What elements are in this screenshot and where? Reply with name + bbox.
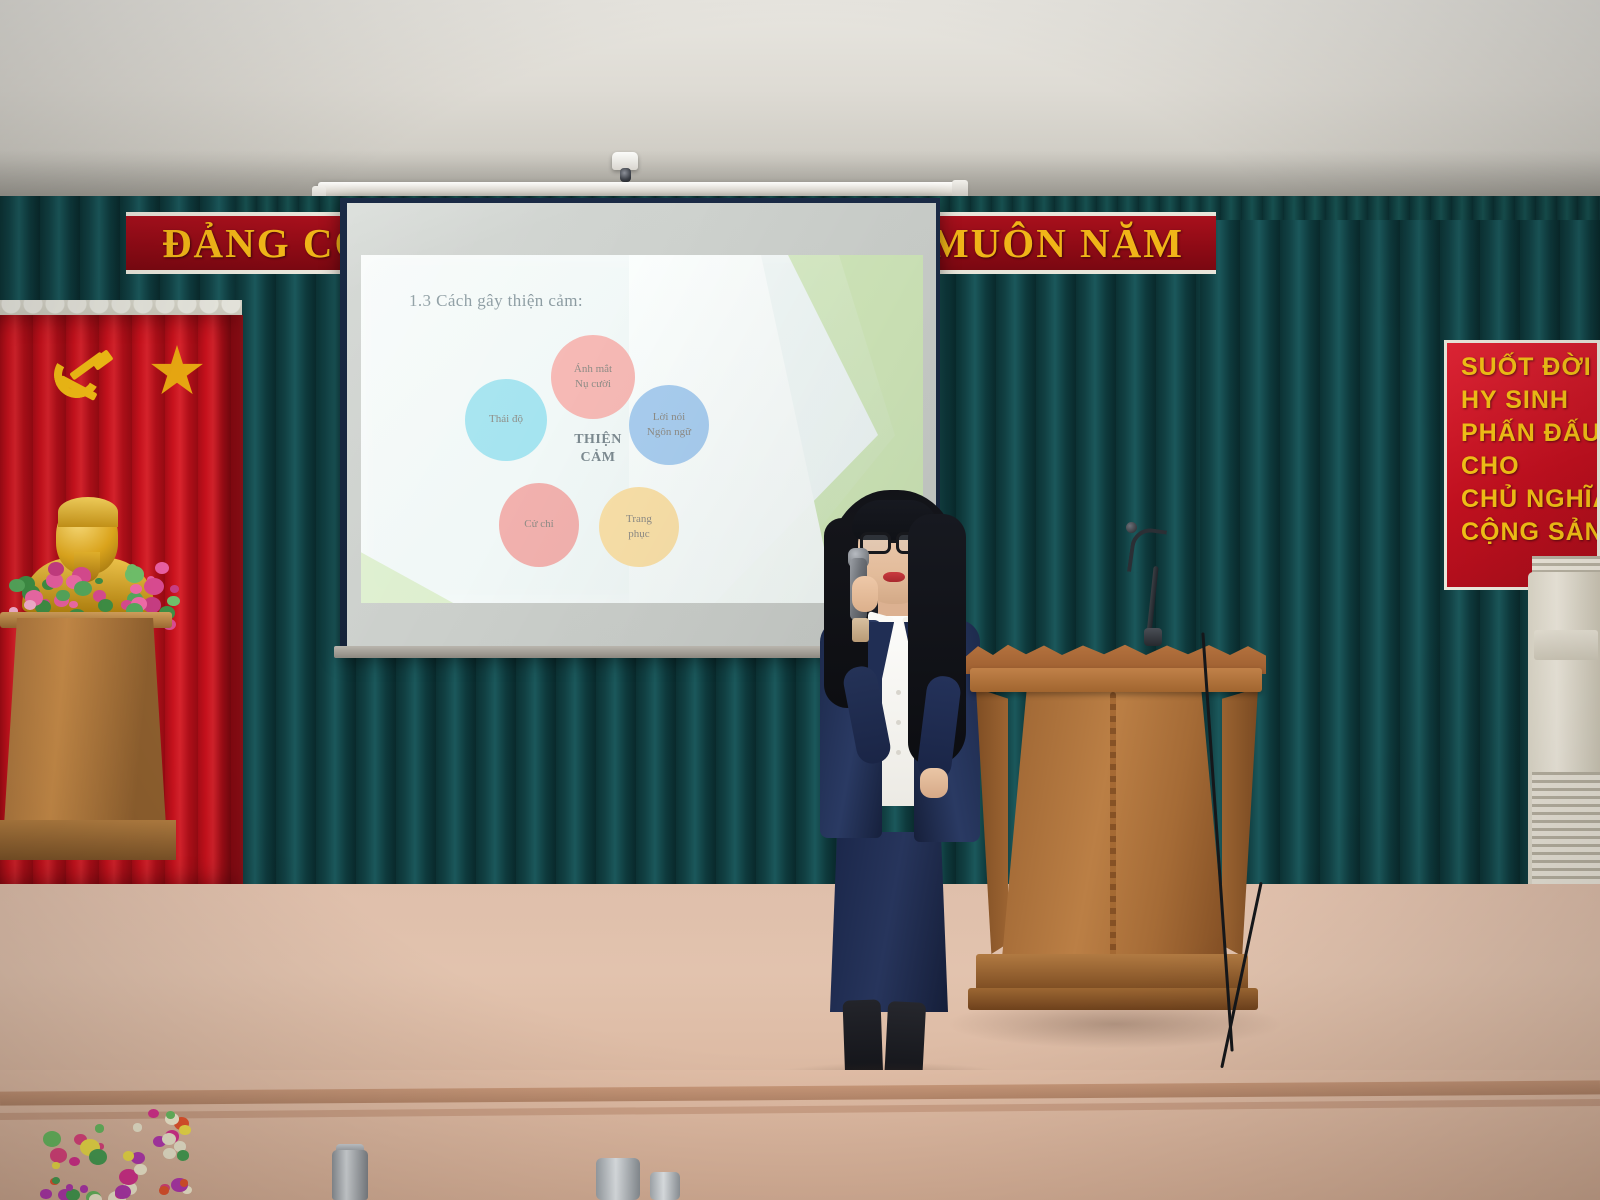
flower-petal — [179, 1125, 190, 1135]
bubble-dress-line2: phục — [628, 527, 649, 542]
slide-accent-shape-3 — [361, 505, 475, 603]
camera-lens-icon — [620, 168, 631, 182]
bubble-dress-line1: Trang — [626, 512, 652, 527]
presenter-skirt — [830, 832, 948, 1012]
presenter-hand-right — [920, 768, 948, 798]
flower-petal — [9, 579, 24, 592]
flower-petal — [50, 1148, 67, 1163]
presentation-hall-scene: ĐẢNG CỘN MUÔN NĂM SUỐT ĐỜI HY SINH PHẤN … — [0, 0, 1600, 1200]
banner-line-1: SUỐT ĐỜI — [1461, 351, 1597, 384]
flower-petal — [69, 1157, 79, 1166]
flower-petal — [170, 599, 178, 606]
slide-bubble-speech: Lời nói Ngôn ngữ — [629, 385, 709, 465]
podium-shelf — [970, 668, 1262, 692]
banner-top-right: MUÔN NĂM — [920, 212, 1216, 274]
banner-line-3: PHẤN ĐẤU — [1461, 417, 1597, 450]
bubble-smile-line2: Nụ cười — [575, 377, 611, 392]
shirt-button — [896, 750, 901, 755]
flower-petal — [130, 584, 142, 594]
presenter-hand-left — [852, 576, 878, 612]
flower-petal — [148, 1109, 159, 1118]
banner-line-5: CHỦ NGHĨA — [1461, 483, 1597, 516]
flower-petal — [166, 1111, 175, 1119]
wooden-podium[interactable] — [966, 640, 1266, 1040]
flower-petal — [163, 1148, 176, 1159]
banner-line-6: CỘNG SẢN — [1461, 516, 1597, 549]
flower-petal — [69, 601, 77, 608]
flower-petal — [123, 1151, 134, 1160]
shirt-button — [896, 690, 901, 695]
banner-vertical-right: SUỐT ĐỜI HY SINH PHẤN ĐẤU CHO CHỦ NGHĨA … — [1444, 340, 1600, 590]
flower-petal — [155, 562, 169, 574]
metal-cup[interactable] — [596, 1158, 640, 1200]
flower-petal — [80, 1185, 89, 1192]
flower-petal — [177, 1150, 189, 1161]
flower-petal — [56, 590, 69, 601]
bubble-gesture-line1: Cử chỉ — [524, 517, 554, 532]
flower-petal — [43, 1131, 61, 1146]
flower-petal — [74, 581, 92, 596]
gooseneck-mic-capsule-icon — [1126, 522, 1137, 533]
flower-petal — [98, 599, 114, 612]
lectern-left-base — [0, 820, 176, 860]
flower-petal — [95, 578, 103, 584]
slide-center-label: THIỆN CẢM — [557, 431, 639, 466]
flower-petal — [170, 585, 179, 593]
flower-petal — [115, 1185, 131, 1199]
podium-center-seam — [1110, 692, 1116, 958]
thermos-flask[interactable] — [332, 1150, 368, 1200]
flower-petal — [180, 1179, 189, 1186]
flower-petal — [133, 1123, 143, 1132]
flower-petal — [162, 1133, 176, 1145]
bubble-speech-line1: Lời nói — [653, 410, 685, 425]
slide-bubble-dress: Trang phục — [599, 487, 679, 567]
flower-petal — [134, 1164, 147, 1175]
slide-bubble-gesture: Cử chỉ — [499, 483, 579, 567]
podium-base — [976, 954, 1248, 992]
ac-control-panel[interactable] — [1534, 630, 1598, 660]
slide-center-line2: CẢM — [557, 449, 639, 467]
flower-petal — [52, 1177, 60, 1184]
slide-bubble-attitude: Thái độ — [465, 379, 547, 461]
flower-petal — [89, 1149, 107, 1165]
bubble-attitude-line1: Thái độ — [489, 412, 523, 427]
flower-petal — [40, 1189, 51, 1199]
podium-base-plinth — [968, 988, 1258, 1010]
bubble-speech-line2: Ngôn ngữ — [647, 425, 691, 440]
flower-petal — [159, 1186, 169, 1195]
hammer-and-sickle-icon — [52, 348, 118, 410]
microphone-grip — [852, 618, 869, 642]
banner-line-2: HY SINH — [1461, 384, 1597, 417]
shirt-button — [896, 720, 901, 725]
flower-petal — [24, 600, 36, 610]
bubble-smile-line1: Ánh mắt — [574, 362, 612, 377]
metal-cup-small[interactable] — [650, 1172, 680, 1200]
flower-petal — [144, 578, 164, 595]
slide-center-line1: THIỆN — [557, 431, 639, 449]
podium-side-left — [976, 688, 1008, 954]
bust-hair — [58, 497, 118, 527]
flower-petal — [52, 1162, 59, 1168]
eyeglasses-bridge — [890, 540, 898, 543]
flower-petal — [95, 1124, 105, 1133]
presenter-lips — [883, 572, 905, 582]
flower-petal — [89, 1194, 102, 1200]
slide-title: 1.3 Cách gây thiện cảm: — [409, 291, 583, 311]
banner-line-4: CHO — [1461, 450, 1597, 483]
foreground-bouquet — [40, 1108, 190, 1200]
flower-petal — [48, 562, 64, 576]
slide-bubble-smile: Ánh mắt Nụ cười — [551, 335, 635, 419]
curtain-valance-right — [1200, 196, 1600, 220]
